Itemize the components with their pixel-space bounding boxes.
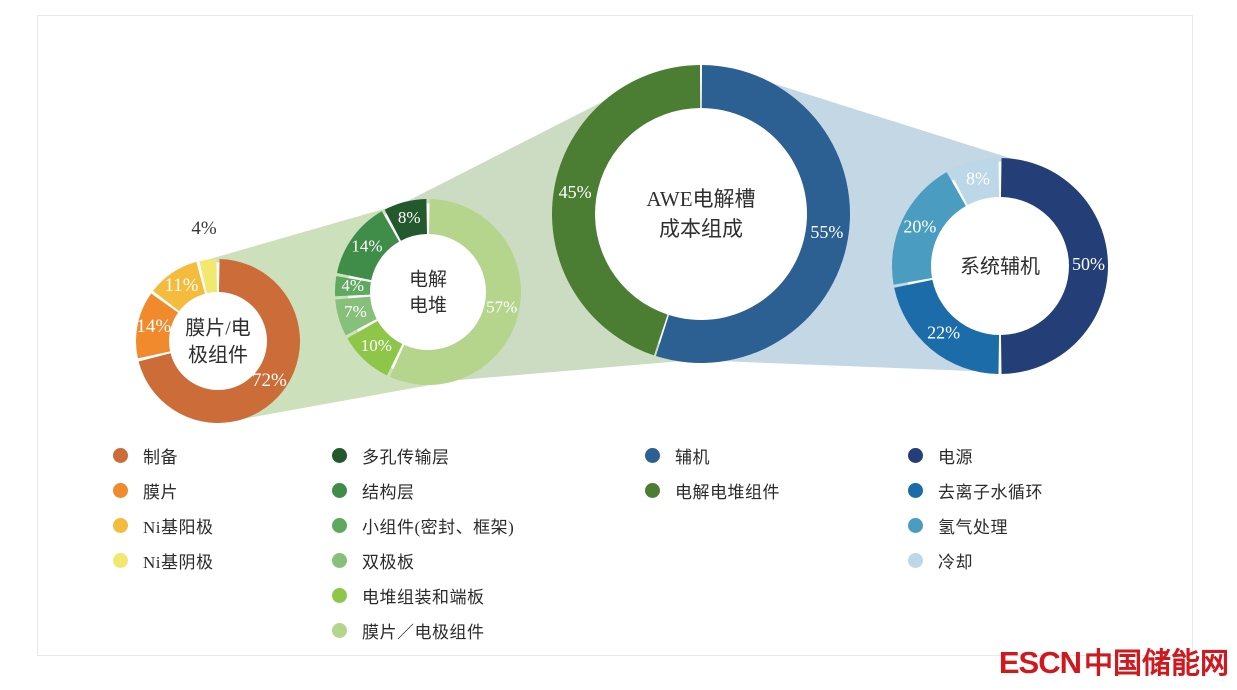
slice-percent-label: 4% xyxy=(341,276,364,295)
legend-col-awe: 辅机电解电堆组件 xyxy=(645,438,780,508)
legend-item-label: 电源 xyxy=(938,443,973,468)
slice-percent-label: 22% xyxy=(927,322,960,342)
watermark-chinese: 中国储能网 xyxy=(1084,640,1229,682)
slice-percent-label: 4% xyxy=(191,218,217,239)
legend-color-swatch-icon xyxy=(113,448,128,463)
slice-percent-label: 8% xyxy=(398,208,421,227)
legend-item-label: 多孔传输层 xyxy=(362,443,450,468)
legend-color-swatch-icon xyxy=(332,448,347,463)
legend-item-label: 氢气处理 xyxy=(938,513,1008,538)
legend-col-stack: 多孔传输层结构层小组件(密封、框架)双极板电堆组装和端板膜片／电极组件 xyxy=(332,438,514,648)
slice-percent-label: 7% xyxy=(344,302,367,321)
legend-item: 去离子水循环 xyxy=(908,473,1043,508)
slice-percent-label: 72% xyxy=(252,370,287,391)
legend-item: 膜片／电极组件 xyxy=(332,613,514,648)
slice-percent-label: 57% xyxy=(486,297,517,316)
slice-percent-label: 50% xyxy=(1072,254,1105,274)
legend-col-bop: 电源去离子水循环氢气处理冷却 xyxy=(908,438,1043,578)
legend-item-label: 电堆组装和端板 xyxy=(362,583,485,608)
legend-item: 小组件(密封、框架) xyxy=(332,508,514,543)
legend-item: 辅机 xyxy=(645,438,780,473)
legend-item: Ni基阳极 xyxy=(113,508,214,543)
slice-percent-label: 14% xyxy=(351,237,382,256)
slice-percent-label: 55% xyxy=(810,222,843,242)
donut-hole xyxy=(596,109,807,320)
legend-item: 膜片 xyxy=(113,473,214,508)
legend-color-swatch-icon xyxy=(332,588,347,603)
legend-color-swatch-icon xyxy=(332,483,347,498)
legend-col-mea: 制备膜片Ni基阳极Ni基阴极 xyxy=(113,438,214,578)
legend-item-label: 电解电堆组件 xyxy=(675,478,780,503)
legend-item-label: Ni基阳极 xyxy=(143,513,214,538)
legend-color-swatch-icon xyxy=(908,448,923,463)
legend-item: 结构层 xyxy=(332,473,514,508)
legend-color-swatch-icon xyxy=(332,553,347,568)
legend-color-swatch-icon xyxy=(113,483,128,498)
legend-item: 电堆组装和端板 xyxy=(332,578,514,613)
legend-item-label: 小组件(密封、框架) xyxy=(362,513,514,538)
legend-item-label: 冷却 xyxy=(938,548,973,573)
legend-item-label: 膜片 xyxy=(143,478,178,503)
slice-percent-label: 11% xyxy=(164,275,198,296)
legend-item: 多孔传输层 xyxy=(332,438,514,473)
legend-item: 冷却 xyxy=(908,543,1043,578)
legend-color-swatch-icon xyxy=(645,483,660,498)
legend-item: 氢气处理 xyxy=(908,508,1043,543)
legend-color-swatch-icon xyxy=(908,483,923,498)
donut-center-title: 系统辅机 xyxy=(960,255,1040,278)
slice-percent-label: 8% xyxy=(966,168,990,188)
legend-color-swatch-icon xyxy=(113,518,128,533)
legend-item-label: 制备 xyxy=(143,443,178,468)
legend-color-swatch-icon xyxy=(332,623,347,638)
legend-item-label: 双极板 xyxy=(362,548,415,573)
donut-hole xyxy=(371,235,486,350)
chart-legend: 制备膜片Ni基阳极Ni基阴极 多孔传输层结构层小组件(密封、框架)双极板电堆组装… xyxy=(0,438,1237,653)
legend-item: 制备 xyxy=(113,438,214,473)
legend-item: 双极板 xyxy=(332,543,514,578)
legend-color-swatch-icon xyxy=(908,518,923,533)
slice-percent-label: 45% xyxy=(559,182,592,202)
legend-color-swatch-icon xyxy=(113,553,128,568)
legend-item-label: Ni基阴极 xyxy=(143,548,214,573)
escn-watermark: ESCN 中国储能网 xyxy=(999,640,1229,682)
slice-percent-label: 14% xyxy=(136,316,171,337)
legend-color-swatch-icon xyxy=(645,448,660,463)
legend-color-swatch-icon xyxy=(908,553,923,568)
watermark-english: ESCN xyxy=(999,645,1081,681)
slice-percent-label: 10% xyxy=(361,336,392,355)
legend-item-label: 结构层 xyxy=(362,478,415,503)
legend-item-label: 辅机 xyxy=(675,443,710,468)
legend-item-label: 膜片／电极组件 xyxy=(362,618,485,643)
legend-item: 电源 xyxy=(908,438,1043,473)
legend-item-label: 去离子水循环 xyxy=(938,478,1043,503)
legend-item: 电解电堆组件 xyxy=(645,473,780,508)
legend-item: Ni基阴极 xyxy=(113,543,214,578)
legend-color-swatch-icon xyxy=(332,518,347,533)
slice-percent-label: 20% xyxy=(903,216,936,236)
